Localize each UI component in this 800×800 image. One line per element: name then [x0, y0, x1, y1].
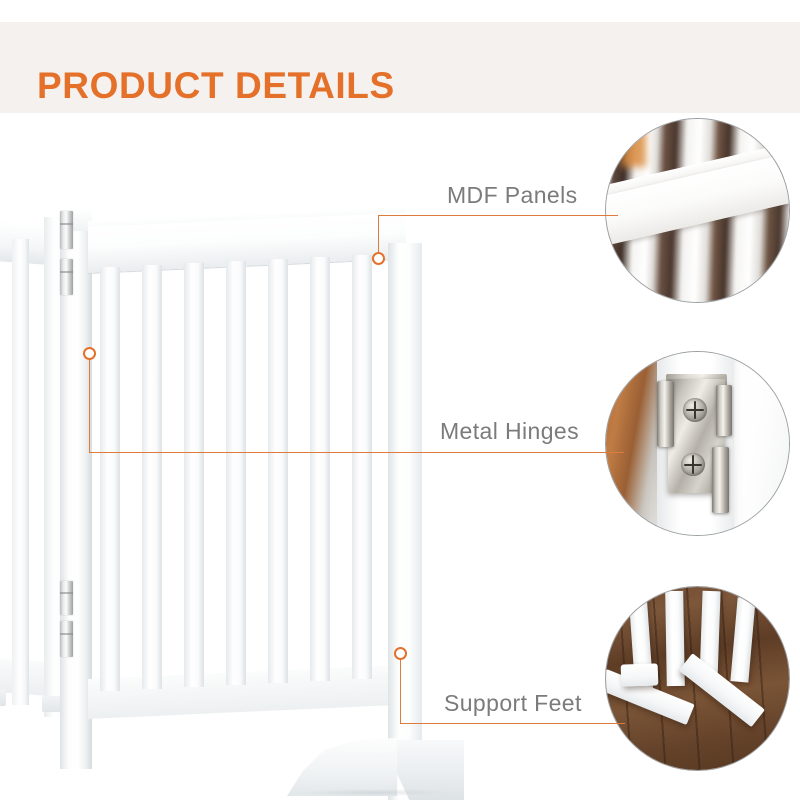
mdf-background-blur: [621, 126, 647, 166]
hinge-screw-upper: [683, 398, 707, 422]
product-details-page: PRODUCT DETAILS: [0, 0, 800, 800]
front-panel-right-post: [388, 243, 422, 800]
hinge-knuckle-left: [657, 381, 673, 447]
front-panel-slat: [268, 259, 288, 683]
hinge-knuckle-lower: [712, 447, 728, 513]
front-panel-slat: [352, 255, 372, 679]
inset-photo-mdf-panels: [605, 118, 790, 303]
support-foot-hub: [620, 663, 657, 686]
metal-hinge-upper: [60, 211, 73, 249]
front-panel-slat: [100, 267, 120, 691]
product-photo: [0, 113, 620, 800]
hinge-knuckle-right: [716, 385, 732, 436]
front-panel-slat: [184, 263, 204, 687]
back-panel-foot: [0, 690, 6, 706]
metal-hinge-upper2: [60, 259, 73, 295]
foot-shadow: [300, 789, 450, 796]
inset-photo-metal-hinges: [605, 351, 790, 536]
metal-hinge-lower: [60, 581, 73, 615]
gate-front-panel: [88, 201, 428, 791]
header-banner: PRODUCT DETAILS: [0, 22, 800, 113]
page-title: PRODUCT DETAILS: [37, 67, 395, 104]
front-panel-slat: [142, 265, 162, 689]
metal-hinge-lower2: [60, 621, 73, 657]
hinge-screw-lower: [681, 453, 705, 477]
front-panel-slat: [310, 257, 330, 681]
back-panel-slat: [12, 239, 29, 705]
inset-photo-support-feet: [605, 586, 790, 771]
front-panel-slat: [226, 261, 246, 685]
